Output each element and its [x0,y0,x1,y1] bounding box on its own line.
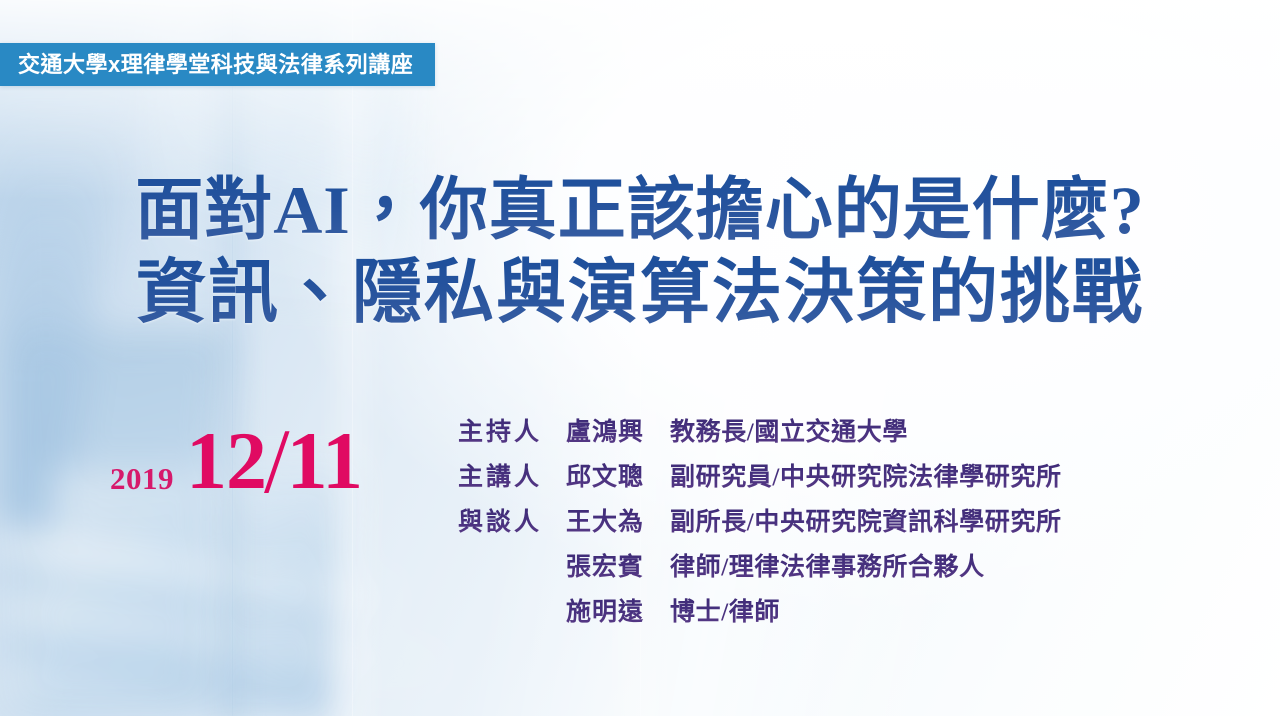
event-date-year: 2019 [110,463,174,500]
list-item: 施明遠 博士/律師 [458,592,1218,637]
event-date-month: 12 [186,423,266,498]
seminar-poster: 交通大學x理律學堂科技與法律系列講座 面對AI，你真正該擔心的是什麼? 資訊、隱… [0,0,1280,720]
series-banner-label: 交通大學x理律學堂科技與法律系列講座 [18,54,413,76]
background-panel-seam-2 [352,0,353,720]
list-item: 與談人 王大為 副所長/中央研究院資訊科學研究所 [458,502,1218,547]
speaker-list: 主持人 盧鴻興 教務長/國立交通大學 主講人 邱文聰 副研究員/中央研究院法律學… [458,412,1218,637]
speaker-title: 教務長/國立交通大學 [670,412,1218,448]
speaker-name: 張宏賓 [566,547,670,583]
speaker-title: 律師/理律法律事務所合夥人 [670,547,1218,583]
list-item: 張宏賓 律師/理律法律事務所合夥人 [458,547,1218,592]
page-title: 面對AI，你真正該擔心的是什麼? 資訊、隱私與演算法決策的挑戰 [0,168,1280,336]
speaker-role: 主講人 [458,457,566,493]
event-date-monthday: 12/11 [186,415,362,500]
list-item: 主講人 邱文聰 副研究員/中央研究院法律學研究所 [458,457,1218,502]
event-date: 2019 12/11 [110,404,420,500]
speaker-title: 副研究員/中央研究院法律學研究所 [670,457,1218,493]
speaker-name: 盧鴻興 [566,412,670,448]
headline-line-2: 資訊、隱私與演算法決策的挑戰 [0,252,1280,336]
list-item: 主持人 盧鴻興 教務長/國立交通大學 [458,412,1218,457]
series-banner: 交通大學x理律學堂科技與法律系列講座 [0,43,435,86]
headline-line-1: 面對AI，你真正該擔心的是什麼? [0,168,1280,252]
speaker-name: 王大為 [566,502,670,538]
speaker-title: 副所長/中央研究院資訊科學研究所 [670,502,1218,538]
speaker-title: 博士/律師 [670,592,1218,628]
speaker-name: 邱文聰 [566,457,670,493]
speaker-name: 施明遠 [566,592,670,628]
speaker-role: 與談人 [458,502,566,538]
event-date-day: 11 [287,423,362,498]
speaker-role: 主持人 [458,412,566,448]
event-date-separator: / [264,419,289,504]
background-panel-seam-1 [232,0,233,720]
bottom-edge [0,716,1280,720]
